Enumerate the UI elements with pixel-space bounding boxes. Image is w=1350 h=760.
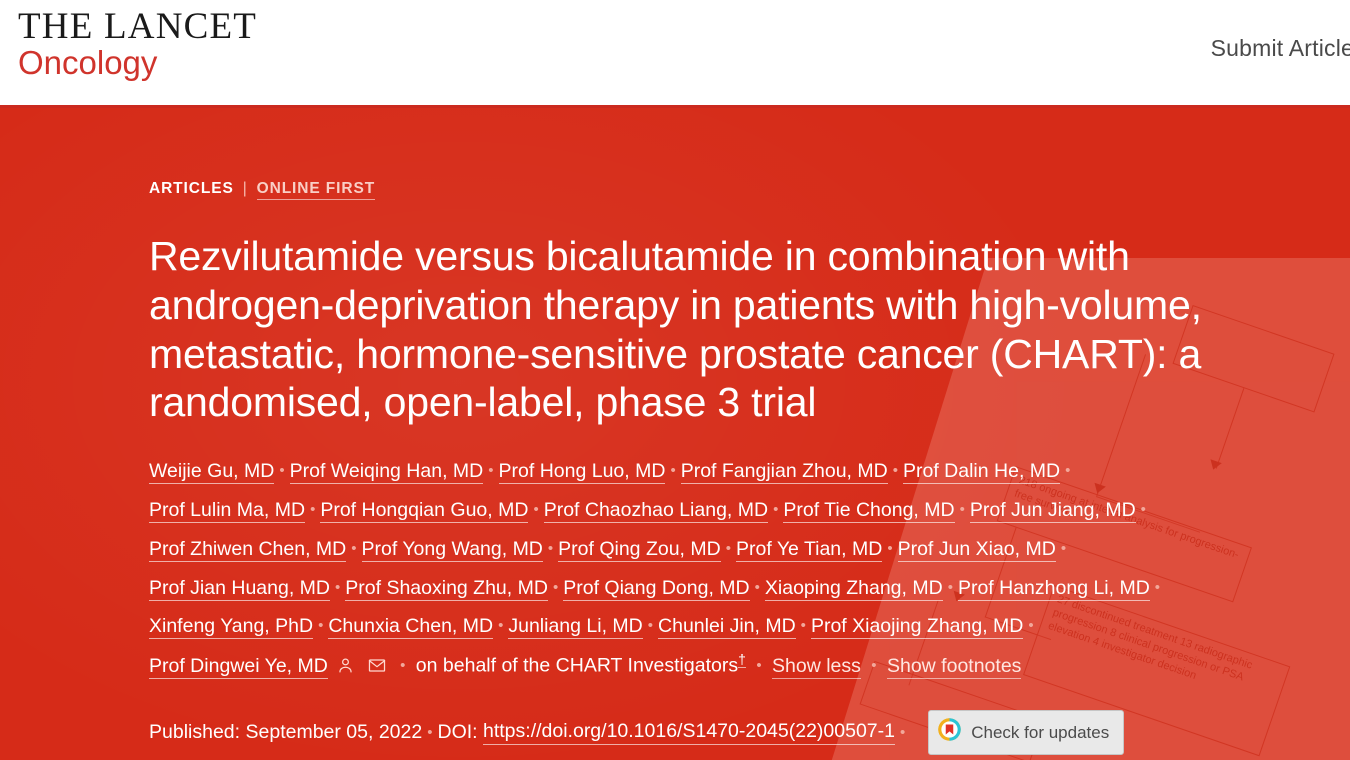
author-link[interactable]: Prof Shaoxing Zhu, MD [345, 577, 548, 601]
separator-bullet: • [427, 724, 432, 741]
author-link[interactable]: Xinfeng Yang, PhD [149, 615, 313, 639]
author-link[interactable]: Prof Hongqian Guo, MD [320, 499, 528, 523]
article-header-content: ARTICLES | ONLINE FIRST Rezvilutamide ve… [149, 180, 1259, 755]
submit-article-link[interactable]: Submit Article [1211, 35, 1350, 62]
crossmark-logo-icon [937, 717, 962, 748]
author-link[interactable]: Prof Hanzhong Li, MD [958, 577, 1150, 601]
separator-bullet: • [1141, 495, 1146, 525]
separator-bullet: • [756, 651, 761, 681]
published-label: Published: [149, 721, 240, 744]
separator-bullet: • [900, 724, 905, 741]
author-link[interactable]: Prof Yong Wang, MD [362, 538, 543, 562]
author-link[interactable]: Weijie Gu, MD [149, 460, 274, 484]
separator-bullet: • [871, 651, 876, 681]
author-links-container: Weijie Gu, MD•Prof Weiqing Han, MD•Prof … [149, 460, 1165, 637]
article-kicker: ARTICLES | ONLINE FIRST [149, 180, 1259, 200]
separator-bullet: • [1028, 611, 1033, 641]
kicker-section[interactable]: ARTICLES [149, 180, 234, 198]
author-link[interactable]: Chunlei Jin, MD [658, 615, 796, 639]
show-footnotes-button[interactable]: Show footnotes [887, 655, 1021, 679]
separator-bullet: • [887, 534, 892, 564]
doi-label: DOI: [437, 721, 477, 744]
author-list: Weijie Gu, MD•Prof Weiqing Han, MD•Prof … [149, 452, 1209, 688]
check-for-updates-button[interactable]: Check for updates [928, 710, 1124, 755]
show-less-button[interactable]: Show less [772, 655, 861, 679]
separator-bullet: • [351, 534, 356, 564]
brand-the-lancet: THE LANCET [18, 8, 257, 47]
kicker-separator: | [243, 180, 248, 198]
envelope-icon[interactable] [367, 650, 387, 689]
published-date: September 05, 2022 [246, 721, 423, 744]
corresponding-author-link[interactable]: Prof Dingwei Ye, MD [149, 655, 328, 679]
author-link[interactable]: Prof Qiang Dong, MD [563, 577, 749, 601]
separator-bullet: • [773, 495, 778, 525]
doi-link[interactable]: https://doi.org/10.1016/S1470-2045(22)00… [483, 720, 895, 745]
site-masthead: THE LANCET Oncology Submit Article [0, 0, 1350, 108]
separator-bullet: • [310, 495, 315, 525]
group-author-label: on behalf of the CHART Investigators [416, 655, 738, 677]
separator-bullet: • [1065, 456, 1070, 486]
author-link[interactable]: Prof Fangjian Zhou, MD [681, 460, 888, 484]
author-link[interactable]: Junliang Li, MD [508, 615, 642, 639]
brand-oncology: Oncology [18, 45, 257, 81]
author-link[interactable]: Chunxia Chen, MD [328, 615, 493, 639]
article-title: Rezvilutamide versus bicalutamide in com… [149, 232, 1244, 427]
author-link[interactable]: Prof Dalin He, MD [903, 460, 1060, 484]
author-link[interactable]: Prof Jun Xiao, MD [898, 538, 1056, 562]
author-link[interactable]: Prof Lulin Ma, MD [149, 499, 305, 523]
separator-bullet: • [1061, 534, 1066, 564]
separator-bullet: • [726, 534, 731, 564]
kicker-online-first[interactable]: ONLINE FIRST [257, 180, 375, 200]
separator-bullet: • [948, 573, 953, 603]
author-link[interactable]: Prof Chaozhao Liang, MD [544, 499, 768, 523]
separator-bullet: • [801, 611, 806, 641]
separator-bullet: • [893, 456, 898, 486]
author-link[interactable]: Prof Ye Tian, MD [736, 538, 882, 562]
journal-logo[interactable]: THE LANCET Oncology [18, 8, 257, 81]
separator-bullet: • [755, 573, 760, 603]
publication-info: Published: September 05, 2022 • DOI: htt… [149, 710, 1259, 755]
separator-bullet: • [488, 456, 493, 486]
author-link[interactable]: Prof Jun Jiang, MD [970, 499, 1136, 523]
author-link[interactable]: Prof Qing Zou, MD [558, 538, 721, 562]
separator-bullet: • [1155, 573, 1160, 603]
separator-bullet: • [648, 611, 653, 641]
person-icon[interactable] [336, 650, 355, 689]
author-link[interactable]: Prof Zhiwen Chen, MD [149, 538, 346, 562]
author-link[interactable]: Prof Jian Huang, MD [149, 577, 330, 601]
footnote-marker[interactable]: † [738, 651, 746, 668]
separator-bullet: • [553, 573, 558, 603]
author-link[interactable]: Prof Xiaojing Zhang, MD [811, 615, 1023, 639]
separator-bullet: • [318, 611, 323, 641]
crossmark-label: Check for updates [971, 723, 1109, 743]
author-link[interactable]: Prof Tie Chong, MD [783, 499, 954, 523]
separator-bullet: • [670, 456, 675, 486]
separator-bullet: • [335, 573, 340, 603]
author-link[interactable]: Prof Weiqing Han, MD [290, 460, 484, 484]
separator-bullet: • [548, 534, 553, 564]
separator-bullet: • [960, 495, 965, 525]
author-link[interactable]: Prof Hong Luo, MD [499, 460, 666, 484]
separator-bullet: • [400, 651, 405, 681]
separator-bullet: • [279, 456, 284, 486]
article-hero-banner: 218 ongoing at interim analysis for prog… [0, 108, 1350, 760]
author-link[interactable]: Xiaoping Zhang, MD [765, 577, 943, 601]
separator-bullet: • [498, 611, 503, 641]
separator-bullet: • [533, 495, 538, 525]
